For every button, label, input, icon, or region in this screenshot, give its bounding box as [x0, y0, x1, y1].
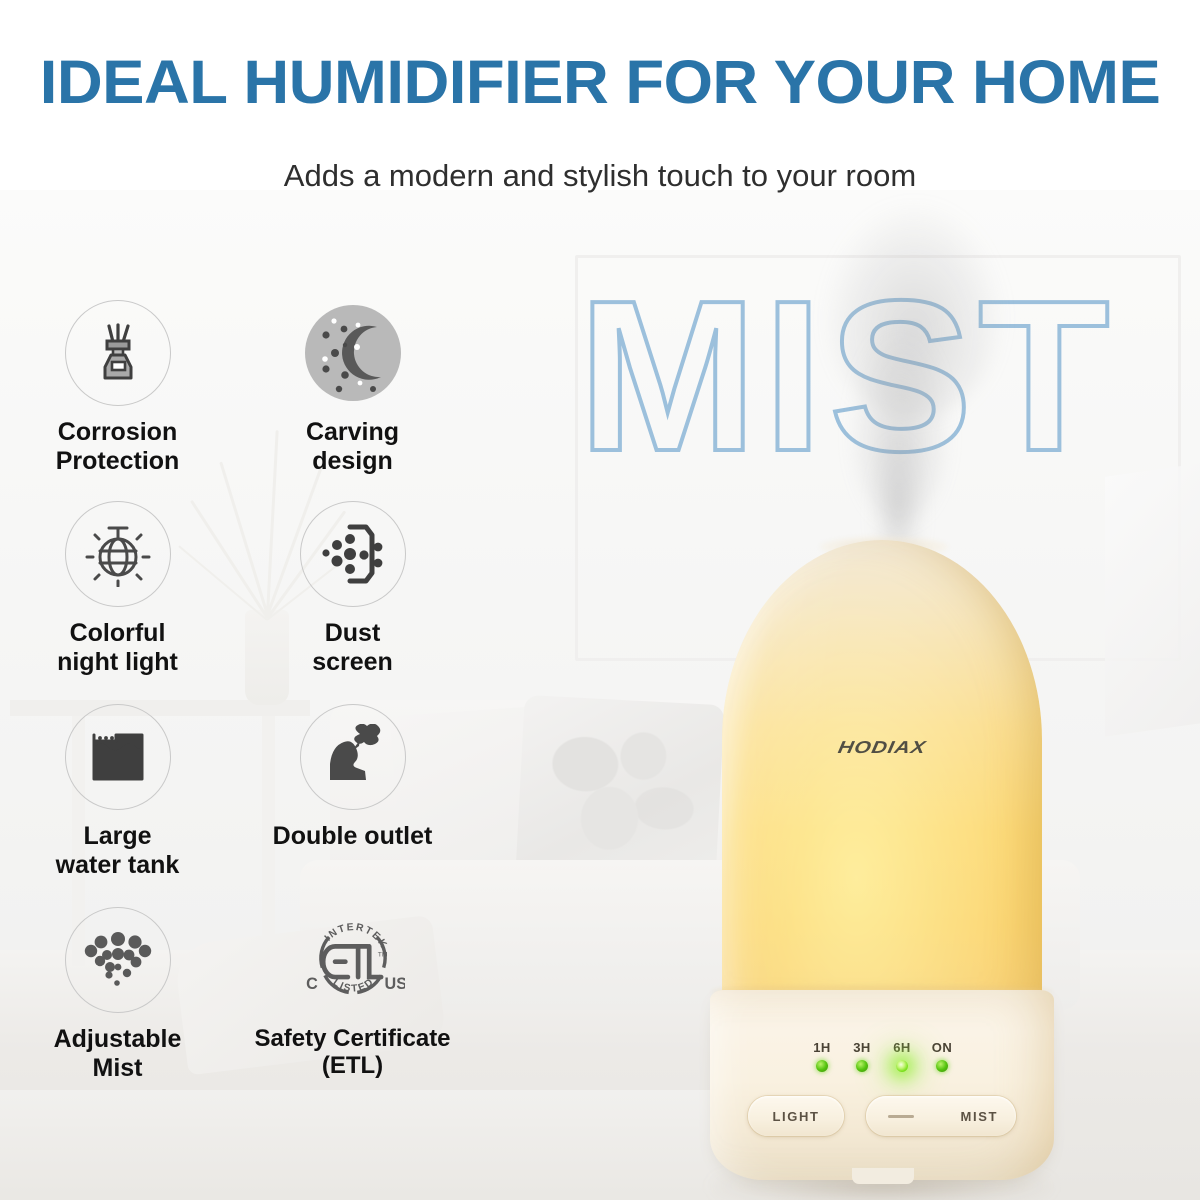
feature-icon-circle — [65, 501, 171, 607]
feature-label: Corrosion Protection — [0, 418, 235, 475]
page-headline: IDEAL HUMIDIFIER FOR YOUR HOME — [0, 52, 1200, 113]
timer-label-1h: 1H — [809, 1040, 835, 1055]
mist-button[interactable]: MIST — [866, 1096, 1016, 1136]
etl-certification-icon: TM INTERTEK LISTED C US — [301, 908, 405, 1012]
feature-row-4: Adjustable Mist — [0, 907, 470, 1082]
feature-label: Adjustable Mist — [0, 1025, 235, 1082]
led-1h — [816, 1060, 828, 1072]
sofa-cushion-floral — [515, 695, 724, 885]
page-subheadline: Adds a modern and stylish touch to your … — [0, 158, 1200, 194]
etl-left-text: C — [306, 975, 318, 993]
etl-bottom-text: LISTED — [330, 976, 376, 995]
feature-icon-circle: TM INTERTEK LISTED C US — [300, 907, 406, 1013]
timer-label-row: 1H 3H 6H ON — [700, 1040, 1064, 1055]
feature-double-outlet[interactable]: Double outlet — [235, 704, 470, 879]
moon-stars-icon — [301, 301, 405, 405]
timer-label-6h: 6H — [889, 1040, 915, 1055]
humidifier-product: HODIAX 1H 3H 6H ON LIGHT MIST — [700, 520, 1070, 1200]
led-6h-active — [896, 1060, 908, 1072]
disco-ball-light-icon — [85, 521, 151, 587]
feature-label: Safety Certificate (ETL) — [235, 1025, 470, 1080]
feature-label: Double outlet — [235, 822, 470, 851]
product-foot — [852, 1168, 914, 1184]
mist-button-label: MIST — [961, 1109, 998, 1124]
mist-watermark-text: MIST — [578, 268, 1198, 483]
product-glow — [722, 540, 1042, 1010]
feature-label: Large water tank — [0, 822, 235, 879]
steam-outlet-icon — [320, 724, 386, 790]
feature-large-water-tank[interactable]: Large water tank — [0, 704, 235, 879]
feature-dust-screen[interactable]: Dust screen — [235, 501, 470, 676]
feature-colorful-night-light[interactable]: Colorful night light — [0, 501, 235, 676]
feature-corrosion-protection[interactable]: Corrosion Protection — [0, 300, 235, 475]
feature-icon-circle — [300, 501, 406, 607]
led-indicator-row — [700, 1060, 1064, 1072]
feature-icon-circle — [65, 704, 171, 810]
feature-icon-circle — [300, 300, 406, 406]
product-marketing-poster: IDEAL HUMIDIFIER FOR YOUR HOME Adds a mo… — [0, 0, 1200, 1200]
timer-label-3h: 3H — [849, 1040, 875, 1055]
feature-icon-circle — [300, 704, 406, 810]
wall-corner-highlight — [1105, 463, 1200, 736]
feature-row-1: Corrosion Protection — [0, 300, 470, 475]
feature-icon-circle — [65, 300, 171, 406]
feature-row-2: Colorful night light — [0, 501, 470, 676]
reed-diffuser-icon — [87, 322, 149, 384]
mist-button-dash-icon — [888, 1115, 914, 1118]
feature-grid: Corrosion Protection — [0, 300, 470, 1082]
led-3h — [856, 1060, 868, 1072]
light-button[interactable]: LIGHT — [748, 1096, 844, 1136]
mist-dots-icon — [83, 925, 153, 995]
control-panel: 1H 3H 6H ON LIGHT MIST — [700, 1040, 1064, 1136]
feature-adjustable-mist[interactable]: Adjustable Mist — [0, 907, 235, 1082]
dust-filter-icon — [320, 521, 386, 587]
svg-text:LISTED: LISTED — [330, 976, 376, 995]
feature-carving-design[interactable]: Carving design — [235, 300, 470, 475]
timer-label-on: ON — [929, 1040, 955, 1055]
feature-label: Carving design — [235, 418, 470, 475]
button-row: LIGHT MIST — [700, 1096, 1064, 1136]
feature-safety-certificate[interactable]: TM INTERTEK LISTED C US Safety Certifica… — [235, 907, 470, 1082]
feature-label: Colorful night light — [0, 619, 235, 676]
etl-right-text: US — [384, 975, 404, 993]
led-on — [936, 1060, 948, 1072]
water-tank-icon — [86, 725, 150, 789]
feature-icon-circle — [65, 907, 171, 1013]
etl-trademark: TM — [377, 952, 387, 959]
feature-label: Dust screen — [235, 619, 470, 676]
feature-row-3: Large water tank Double outlet — [0, 704, 470, 879]
brand-logo: HODIAX — [698, 738, 1066, 758]
